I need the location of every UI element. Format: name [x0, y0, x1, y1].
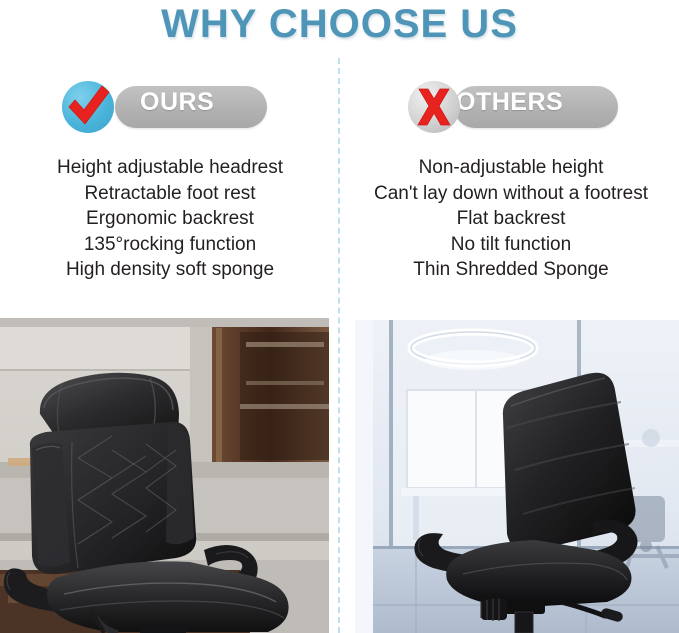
features-ours: Height adjustable headrest Retractable f… [10, 155, 330, 283]
badge-others-label: OTHERS [456, 81, 563, 123]
feature-item: Can't lay down without a footrest [350, 181, 672, 207]
features-others: Non-adjustable height Can't lay down wit… [350, 155, 672, 283]
product-photo-others [355, 320, 679, 633]
feature-item: Height adjustable headrest [10, 155, 330, 181]
check-mark-icon [62, 81, 114, 133]
feature-item: Thin Shredded Sponge [350, 257, 672, 283]
product-photo-ours [0, 318, 329, 633]
page-title: WHY CHOOSE US [0, 0, 679, 48]
feature-item: Non-adjustable height [350, 155, 672, 181]
badge-ours: OURS [62, 81, 267, 133]
cross-mark-icon [408, 81, 460, 133]
feature-item: 135°rocking function [10, 232, 330, 258]
column-divider [338, 58, 340, 633]
feature-item: Retractable foot rest [10, 181, 330, 207]
feature-item: Ergonomic backrest [10, 206, 330, 232]
feature-item: High density soft sponge [10, 257, 330, 283]
feature-item: No tilt function [350, 232, 672, 258]
comparison-infographic: WHY CHOOSE US OURS OTHERS Height adjusta… [0, 0, 679, 633]
badge-others: OTHERS [408, 81, 618, 133]
badge-ours-label: OURS [140, 81, 214, 123]
feature-item: Flat backrest [350, 206, 672, 232]
